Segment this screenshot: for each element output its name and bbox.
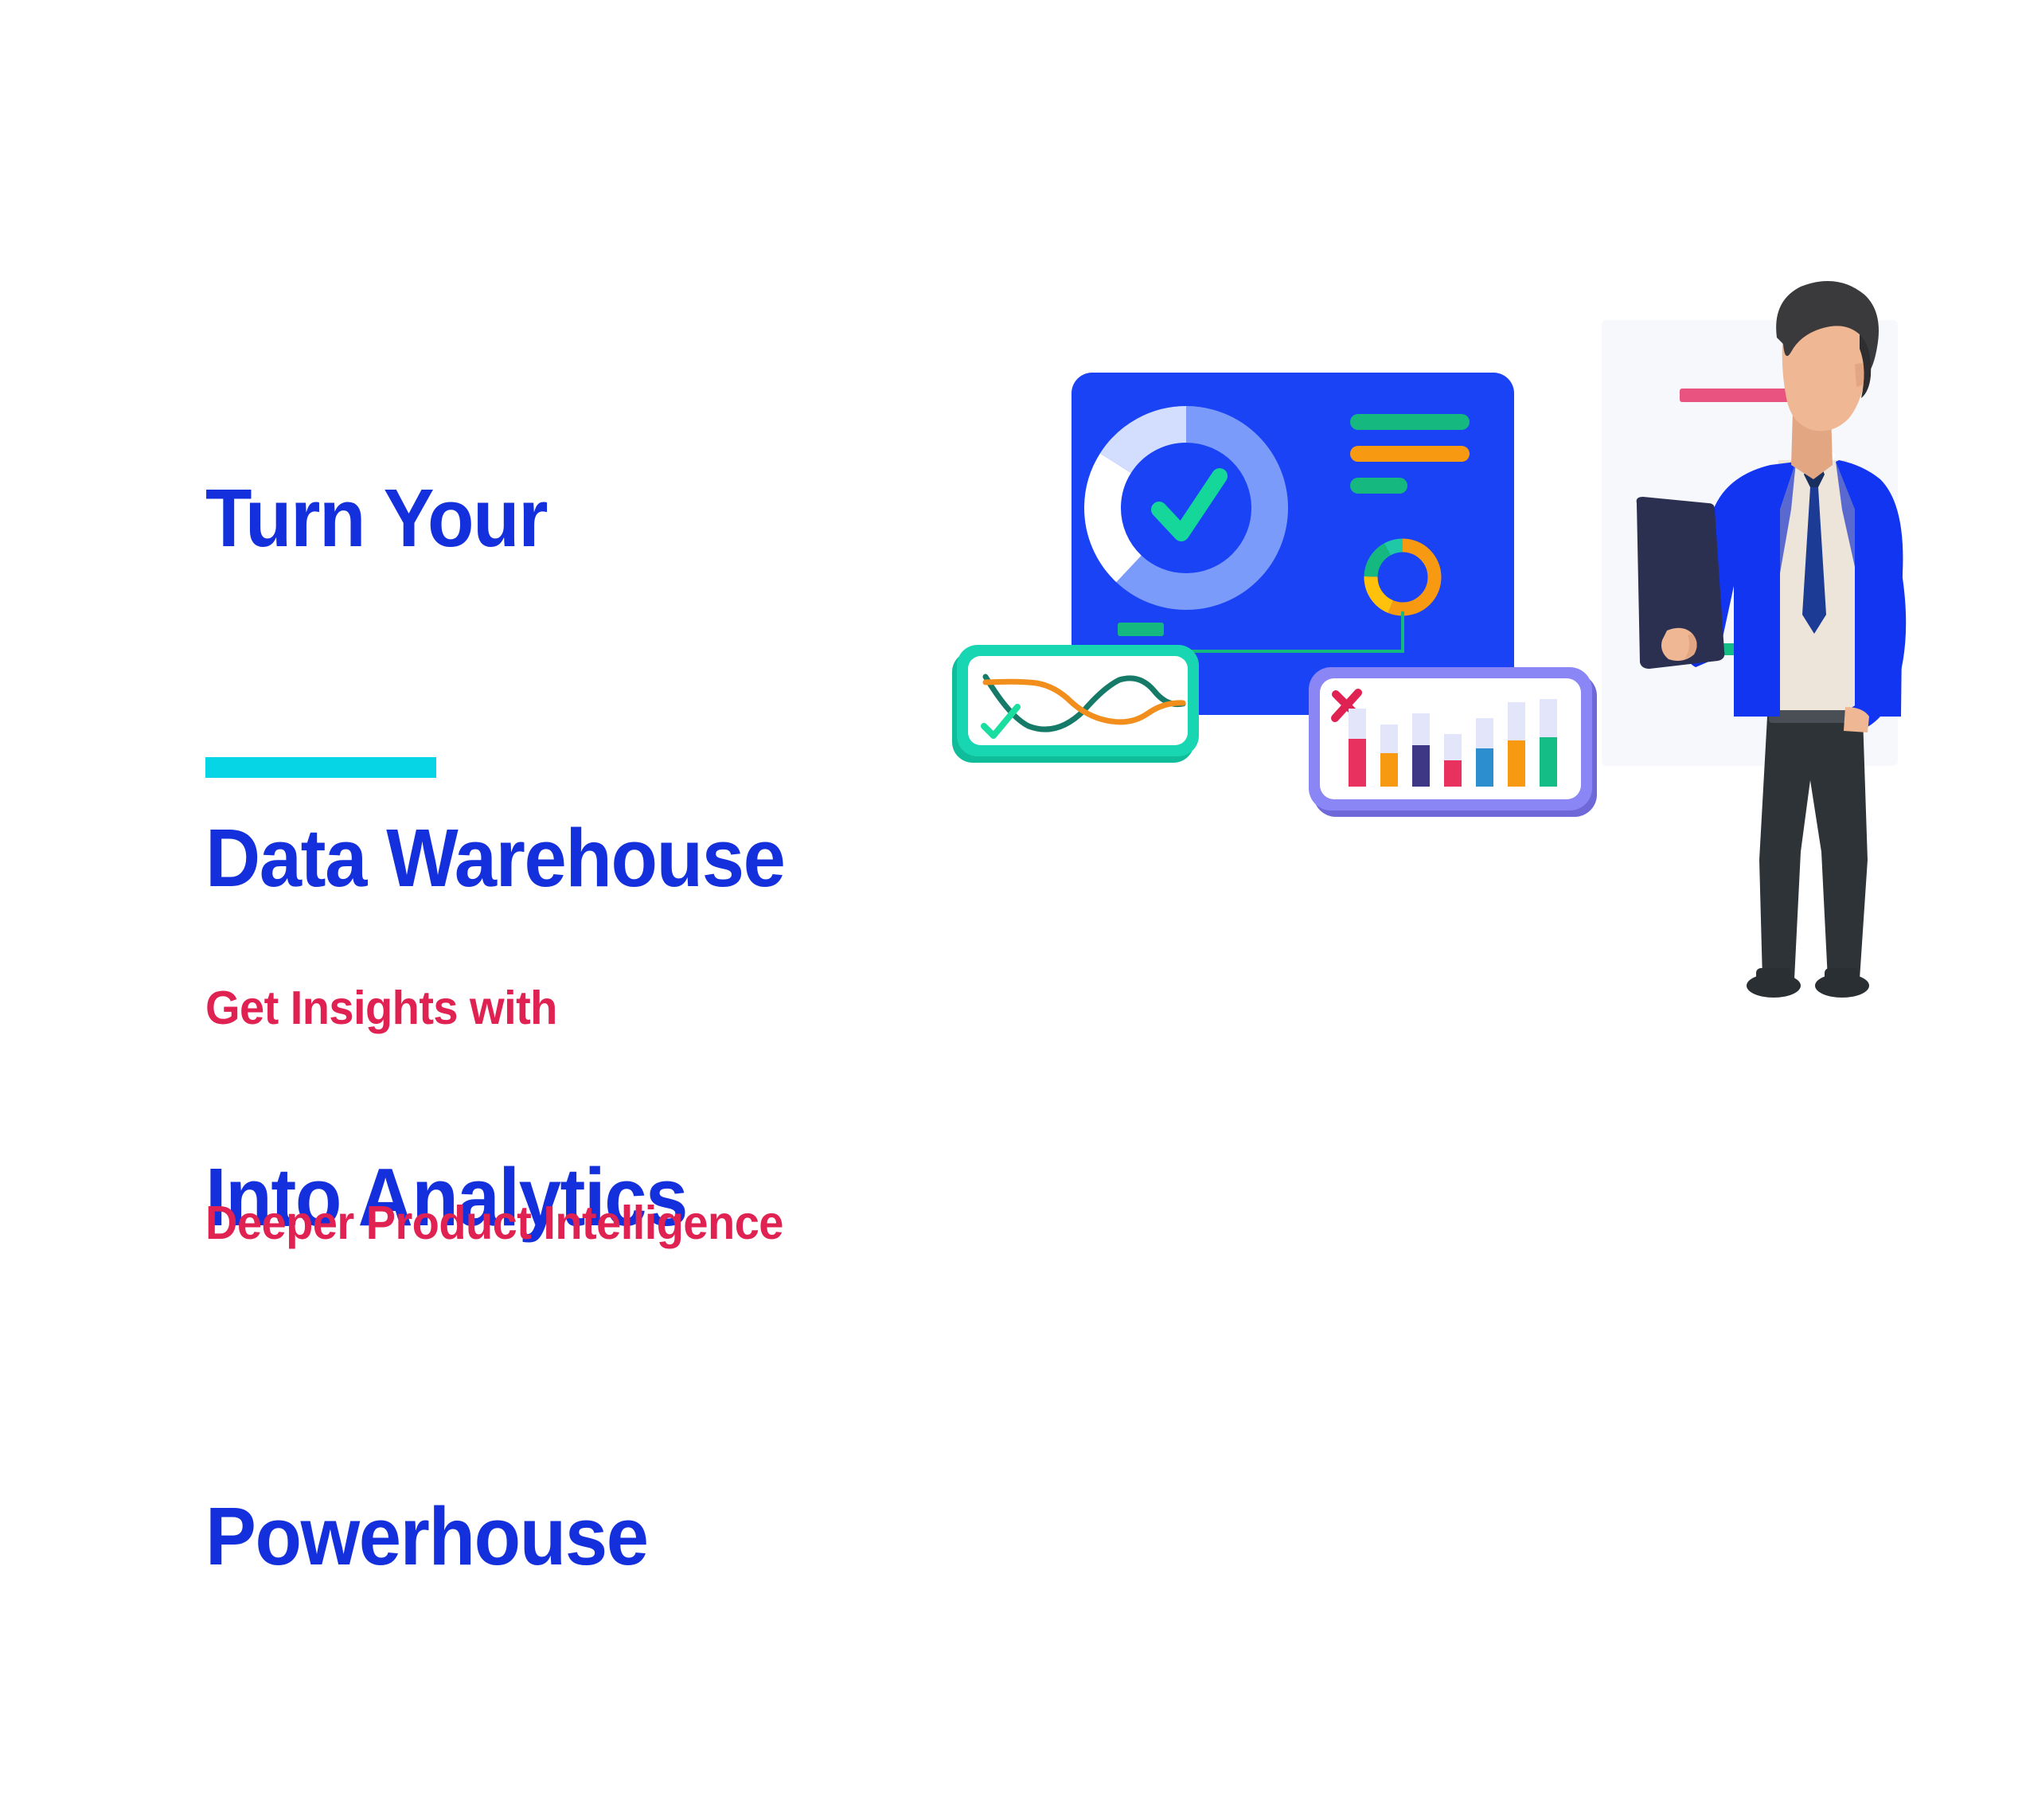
subhead-line-2: Deeper Product Intelligence	[205, 1187, 783, 1259]
headline-line-1: Turn Your	[205, 462, 946, 575]
bar-3	[1412, 713, 1430, 787]
stat-bar-green-1	[1350, 414, 1470, 430]
bar-5	[1476, 718, 1493, 787]
trousers	[1759, 717, 1868, 979]
stat-bar-green-2	[1350, 478, 1407, 494]
bar-1	[1349, 709, 1366, 787]
bar-6	[1508, 702, 1525, 787]
headline-line-4: Powerhouse	[205, 1480, 946, 1593]
analytics-dashboard-illustration	[915, 271, 1966, 1067]
bar-chart-card	[1309, 667, 1597, 817]
stat-bar-orange	[1350, 446, 1470, 462]
page-subtitle: Get Insights with Deeper Product Intelli…	[205, 828, 783, 1331]
bar-2	[1380, 724, 1398, 787]
bar-4	[1444, 734, 1462, 787]
subhead-line-1: Get Insights with	[205, 972, 783, 1044]
line-chart-card	[952, 645, 1199, 763]
accent-divider	[205, 757, 436, 778]
legend-bar-green	[1118, 623, 1164, 636]
bar-7	[1540, 699, 1557, 787]
